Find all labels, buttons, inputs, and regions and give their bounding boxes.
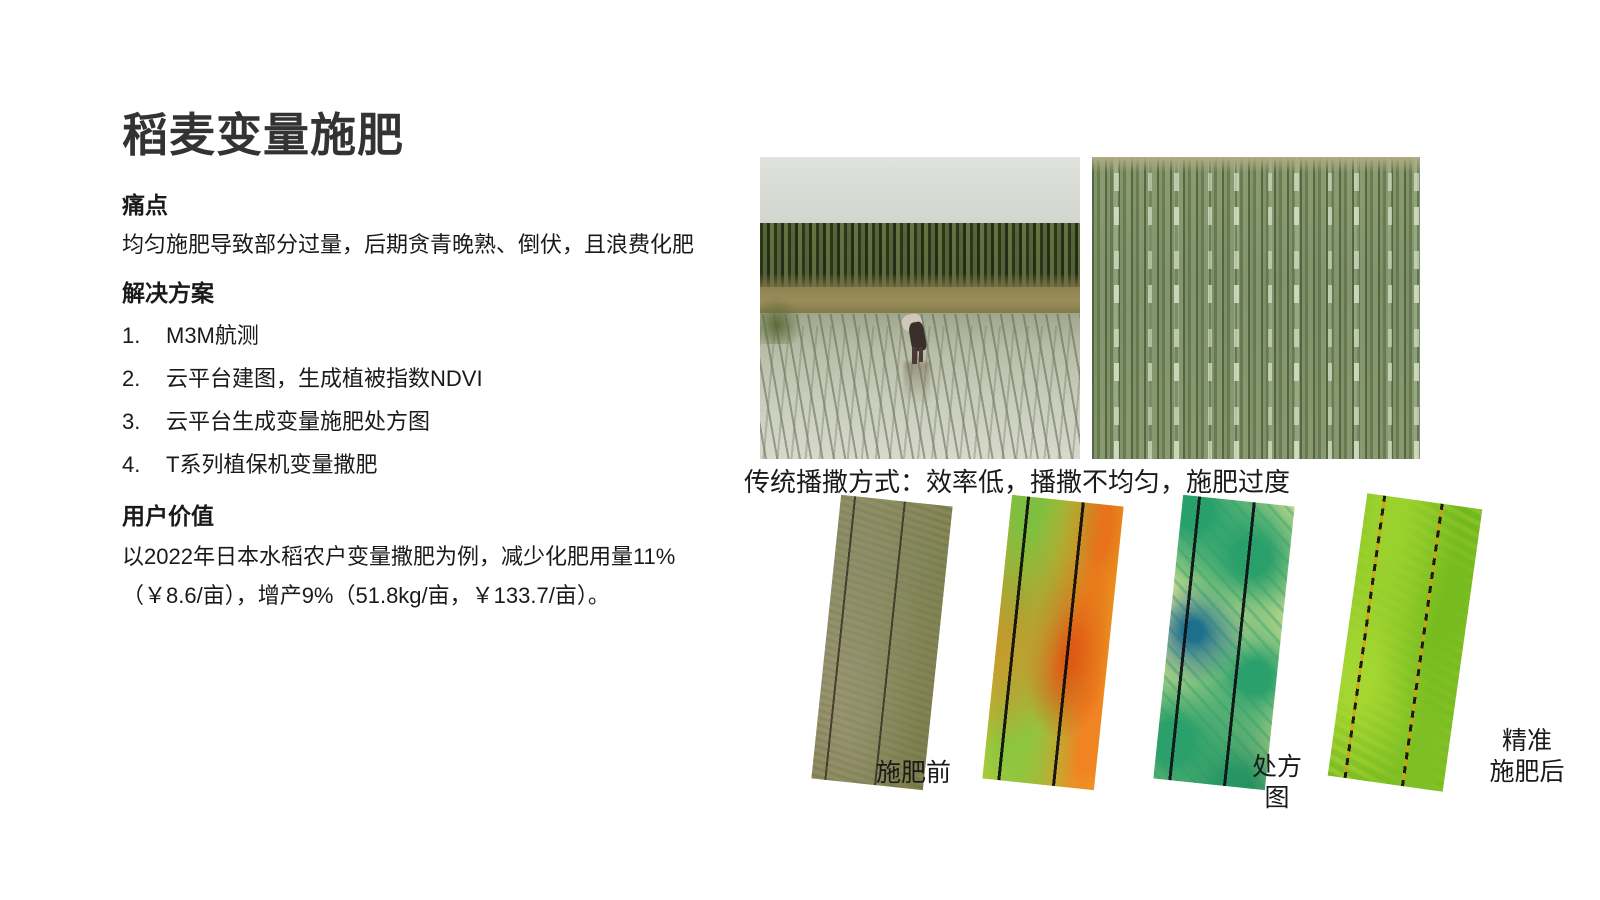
- field-map-prescription: [1153, 495, 1294, 790]
- map-label-prescription: 处方 图: [1242, 752, 1312, 813]
- media-column: 传统播撒方式：效率低，播撒不均匀，施肥过度 施肥前 处方 图 精准 施肥后: [0, 0, 1600, 900]
- field-map-before: [811, 495, 952, 790]
- furrow-dot-pattern: [1328, 493, 1483, 791]
- field-map-ndvi: [982, 495, 1123, 790]
- water-reflection: [904, 362, 930, 404]
- field-edge-grass: [760, 296, 802, 344]
- slide-root: 稻麦变量施肥 痛点 均匀施肥导致部分过量，后期贪青晚熟、倒伏，且浪费化肥 解决方…: [0, 0, 1600, 900]
- farmer-leg-right: [919, 347, 923, 362]
- map-label-prescription-line2: 图: [1242, 783, 1312, 814]
- field-headland: [1092, 157, 1420, 172]
- farmer-leg-left: [912, 347, 917, 364]
- aerial-stripes-photo: [1092, 157, 1420, 459]
- map-label-after: 精准 施肥后: [1472, 726, 1582, 787]
- paddy-broadcast-photo: [760, 157, 1080, 459]
- field-bund-region: [760, 287, 1080, 314]
- map-label-prescription-line1: 处方: [1242, 752, 1312, 783]
- map-label-after-line1: 精准: [1472, 726, 1582, 757]
- furrow-lines: [982, 495, 1123, 790]
- farmer-figure: [901, 311, 933, 362]
- media-caption: 传统播撒方式：效率低，播撒不均匀，施肥过度: [744, 466, 1444, 500]
- map-label-after-line2: 施肥后: [1472, 757, 1582, 788]
- furrow-lines: [811, 495, 952, 790]
- furrow-lines: [1153, 495, 1294, 790]
- uneven-growth-streaks: [1092, 157, 1420, 459]
- field-map-after: [1328, 493, 1483, 791]
- map-label-before: 施肥前: [876, 758, 951, 789]
- treeline-region: [760, 223, 1080, 289]
